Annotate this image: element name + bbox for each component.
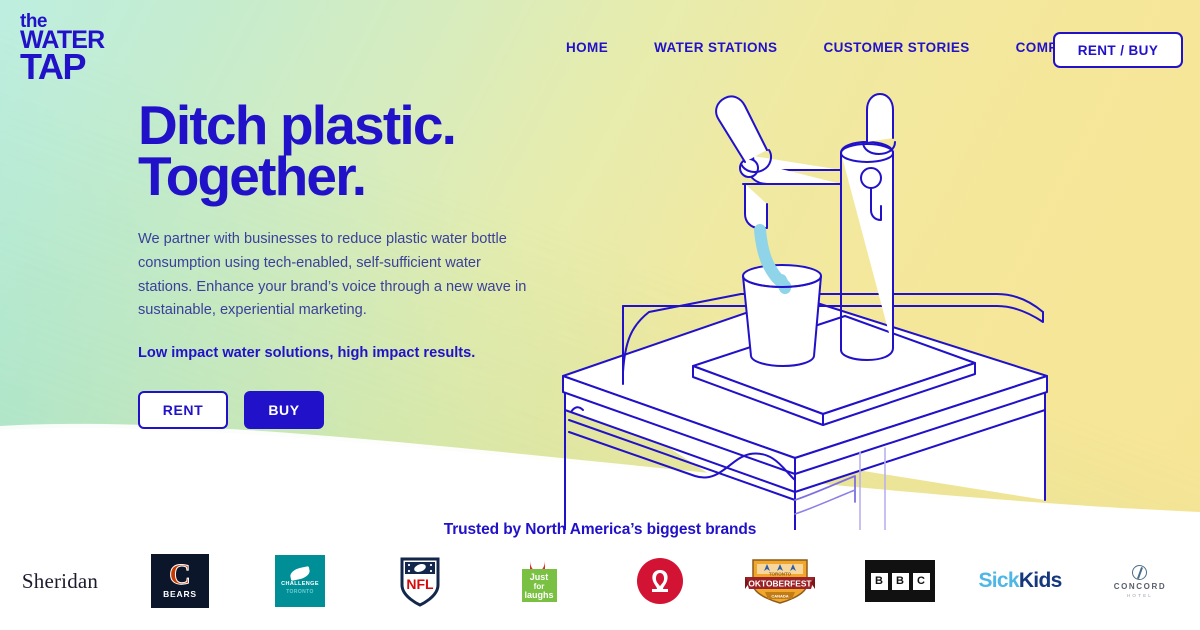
nav-item-water-stations[interactable]: WATER STATIONS <box>654 40 777 55</box>
hero-copy: Ditch plastic. Together. We partner with… <box>138 100 538 429</box>
logo-item-nfl[interactable]: NFL <box>360 546 480 616</box>
nfl-wordmark: NFL <box>406 576 434 592</box>
svg-text:Just: Just <box>530 572 549 582</box>
rent-button[interactable]: RENT <box>138 391 228 429</box>
nav-item-customer-stories[interactable]: CUSTOMER STORIES <box>823 40 969 55</box>
challenge-sublabel: TORONTO <box>286 589 314 595</box>
logo-line-tap: TAP <box>20 52 120 83</box>
top-navigation: the WATER TAP HOME WATER STATIONS CUSTOM… <box>0 0 1200 100</box>
logo-item-sheridan[interactable]: Sheridan <box>0 546 120 616</box>
challenge-wordmark: CHALLENGE <box>281 581 319 587</box>
rent-buy-button[interactable]: RENT / BUY <box>1053 32 1183 68</box>
toronto-oktoberfest-logo: TORONTO OKTOBERFEST CANADA <box>743 556 817 606</box>
just-for-laughs-logo: Just for laughs <box>517 556 563 606</box>
page-root: the WATER TAP HOME WATER STATIONS CUSTOM… <box>0 0 1200 630</box>
bbc-letter-b2: B <box>892 573 909 590</box>
buy-button[interactable]: BUY <box>244 391 324 429</box>
concord-hotel-logo: CONCORD HOTEL <box>1114 565 1167 598</box>
page-title: Ditch plastic. Together. <box>138 100 538 202</box>
headline-line-2: Together. <box>138 151 538 202</box>
lululemon-omega-icon <box>646 567 674 595</box>
lululemon-logo <box>637 558 683 604</box>
sickkids-sick: Sick <box>978 569 1018 592</box>
svg-text:laughs: laughs <box>524 590 553 600</box>
concord-sublabel: HOTEL <box>1127 593 1153 598</box>
logo-item-dolphins-challenge[interactable]: CHALLENGE TORONTO <box>240 546 360 616</box>
hero-paragraph: We partner with businesses to reduce pla… <box>138 228 528 323</box>
nav-links: HOME WATER STATIONS CUSTOMER STORIES COM… <box>566 40 1086 55</box>
dolphins-challenge-logo: CHALLENGE TORONTO <box>275 555 325 607</box>
brand-logo[interactable]: the WATER TAP <box>20 14 120 83</box>
chicago-bears-logo: C BEARS <box>151 554 209 608</box>
sheridan-logo: Sheridan <box>22 569 98 594</box>
bbc-letter-c: C <box>913 573 930 590</box>
bbc-letter-b1: B <box>871 573 888 590</box>
bbc-logo: B B C <box>865 560 935 602</box>
trusted-by-title: Trusted by North America’s biggest brand… <box>0 521 1200 539</box>
sickkids-kids: Kids <box>1019 569 1062 592</box>
water-tap-illustration <box>545 80 1065 530</box>
logo-item-just-for-laughs[interactable]: Just for laughs <box>480 546 600 616</box>
nav-item-home[interactable]: HOME <box>566 40 608 55</box>
sickkids-logo: SickKids <box>978 569 1061 593</box>
logo-item-lululemon[interactable] <box>600 546 720 616</box>
hero-cta-group: RENT BUY <box>138 391 538 429</box>
logo-item-chicago-bears[interactable]: C BEARS <box>120 546 240 616</box>
logo-item-sickkids[interactable]: SickKids <box>960 546 1080 616</box>
concord-mark-icon <box>1132 565 1147 580</box>
dolphin-icon <box>289 566 311 581</box>
concord-wordmark: CONCORD <box>1114 582 1167 591</box>
svg-text:CANADA: CANADA <box>771 594 788 599</box>
logo-item-toronto-oktoberfest[interactable]: TORONTO OKTOBERFEST CANADA <box>720 546 840 616</box>
logo-item-bbc[interactable]: B B C <box>840 546 960 616</box>
logo-item-concord-hotel[interactable]: CONCORD HOTEL <box>1080 546 1200 616</box>
hero-tagline: Low impact water solutions, high impact … <box>138 345 538 361</box>
oktoberfest-sublabel: TORONTO <box>769 572 792 577</box>
oktoberfest-wordmark: OKTOBERFEST <box>748 579 812 589</box>
nfl-shield-logo: NFL <box>399 555 441 607</box>
trusted-logo-row: Sheridan C BEARS CHALLENGE TORONTO NFL <box>0 546 1200 616</box>
bears-c-mark: C <box>169 563 191 587</box>
bears-wordmark: BEARS <box>163 589 197 599</box>
